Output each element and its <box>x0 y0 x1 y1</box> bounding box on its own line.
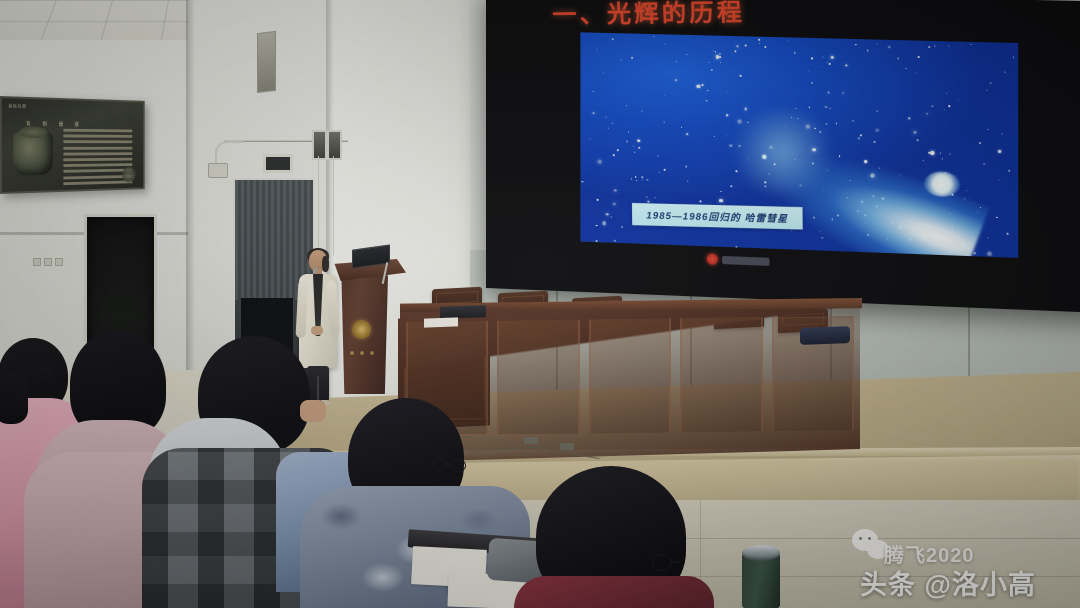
desk-laptop[interactable] <box>440 305 486 319</box>
slide-corner-logo <box>707 253 770 267</box>
lectern-emblem-icon <box>352 320 371 339</box>
desk-panel <box>680 316 762 436</box>
bronze-vessel-image <box>13 132 53 176</box>
board-title-text: 展板标题 <box>8 103 26 109</box>
photo-scene: 展板标题 青 铜 器 展 一、光辉的历程 1985—1986回归的 哈雷彗星 <box>0 0 1080 608</box>
wall-exhibit-board: 展板标题 青 铜 器 展 <box>0 96 145 194</box>
speaker-cable <box>333 156 334 256</box>
logo-dot-icon <box>707 253 718 265</box>
wall-speaker <box>312 130 327 160</box>
ceiling-speaker <box>257 31 276 93</box>
wall-corner-shadow <box>186 0 195 430</box>
lectern-decoration <box>348 346 376 360</box>
wall-outlets <box>33 258 63 266</box>
cable-connector <box>560 443 574 450</box>
wall-speaker <box>327 130 342 160</box>
student-maroon-top <box>514 576 714 608</box>
projection-screen: 一、光辉的历程 1985—1986回归的 哈雷彗星 <box>486 0 1080 313</box>
presenter-leg-gap <box>317 376 319 402</box>
student-hair-strand <box>0 372 28 424</box>
board-seal-icon <box>122 167 135 183</box>
door-sign-display <box>263 154 293 173</box>
student-hand <box>300 400 326 422</box>
presenter-hair-side <box>322 256 329 272</box>
thermos-cap <box>742 545 780 561</box>
board-body-text <box>63 129 132 188</box>
desk-panel <box>589 316 671 436</box>
speaker-cable <box>318 156 319 256</box>
desk-panel-row <box>406 316 854 436</box>
wechat-bubble-small <box>867 540 889 559</box>
desk-papers <box>424 317 458 327</box>
presenter-hands <box>311 326 323 335</box>
cable-connector <box>524 437 538 444</box>
desk-bag <box>800 326 850 345</box>
desk-panel <box>497 316 579 436</box>
slide-heading: 一、光辉的历程 <box>552 0 746 30</box>
logo-text-bar <box>722 255 769 265</box>
comet-photo: 1985—1986回归的 哈雷彗星 <box>580 32 1018 258</box>
wall-sensor-box <box>208 163 228 178</box>
